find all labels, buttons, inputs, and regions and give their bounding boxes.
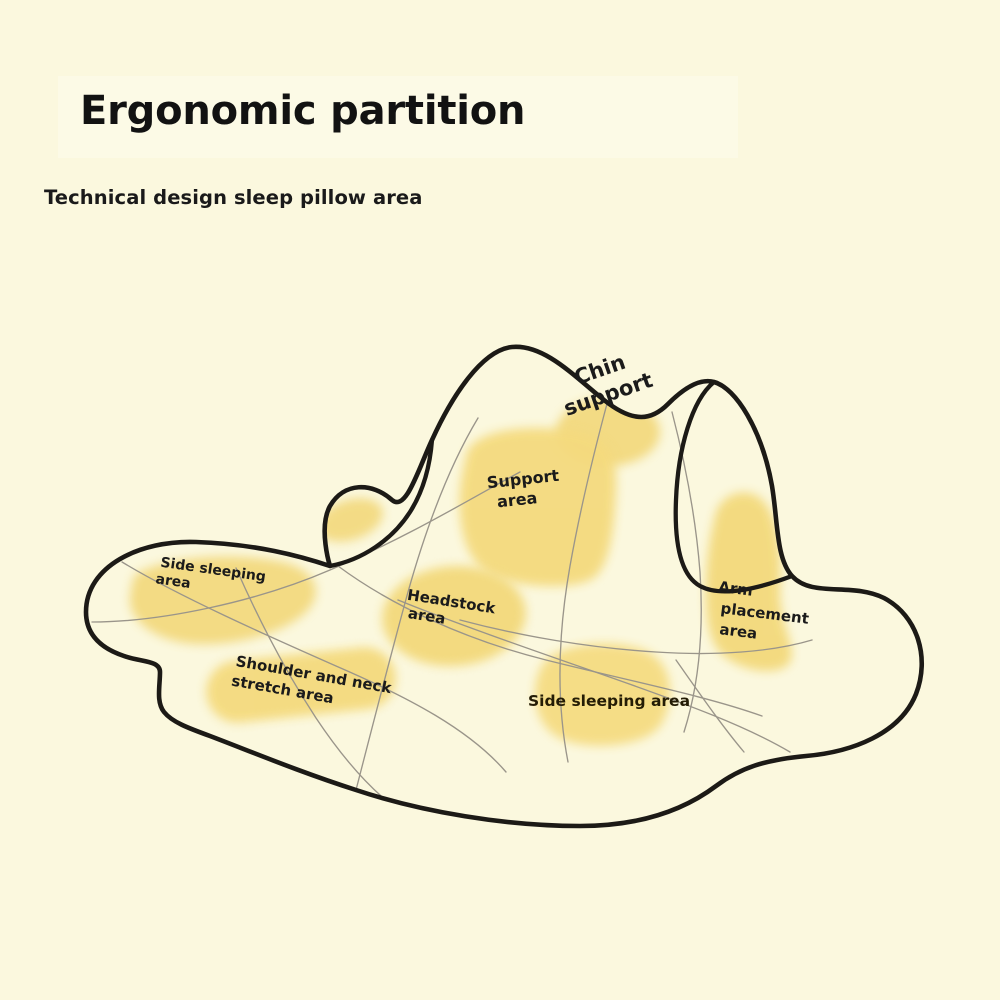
zone-label-side-sleeping-bottom: Side sleeping area [528,692,690,710]
pillow-infographic-page: Ergonomic partition Technical design sle… [0,0,1000,1000]
zone-label-side-sleeping-bottom-line-0: Side sleeping area [528,692,690,710]
pillow-diagram: Chin support Support area Side sleeping … [0,0,1000,1000]
